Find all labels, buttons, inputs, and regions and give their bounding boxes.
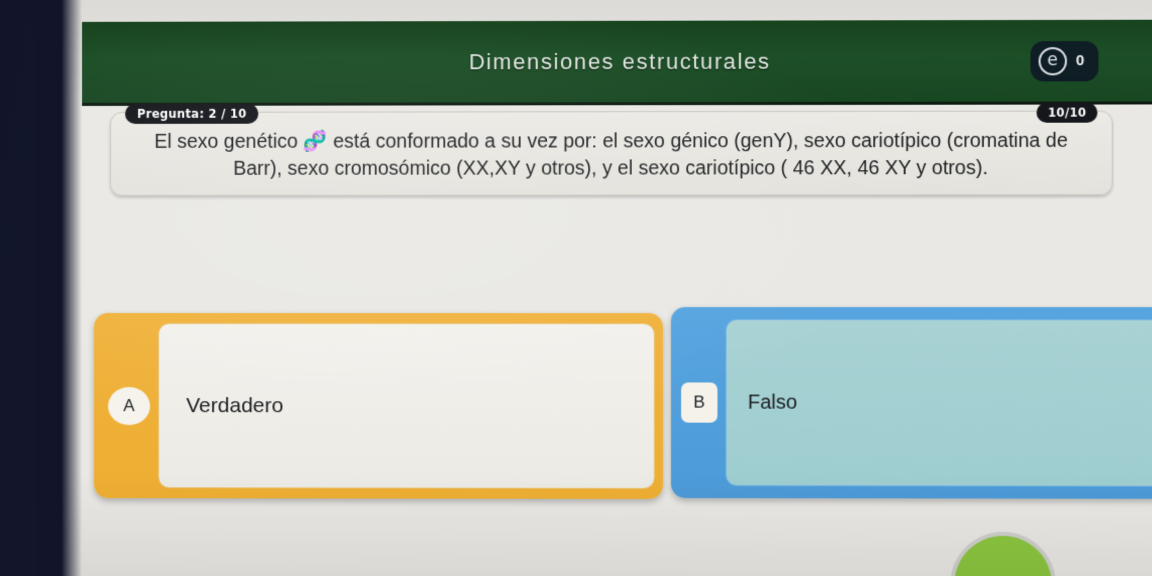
- answer-options: A Verdadero B Falso: [82, 305, 1152, 507]
- screen-edge-shadow: [36, 0, 82, 576]
- question-text-part-2: está conformado a su vez por: el sexo gé…: [233, 130, 1068, 180]
- score-badge: 10/10: [1037, 103, 1098, 123]
- page-title: Dimensiones estructurales: [469, 48, 771, 75]
- coin-e-icon: e: [1038, 47, 1066, 75]
- answer-key-badge-a: A: [108, 387, 150, 425]
- question-progress-badge: Pregunta: 2 / 10: [125, 104, 259, 124]
- question-text-part-1: El sexo genético: [154, 131, 297, 153]
- question-card: Pregunta: 2 / 10 10/10 El sexo genético …: [110, 111, 1113, 196]
- answer-key-badge-b: B: [681, 382, 717, 422]
- coin-counter[interactable]: e 0: [1030, 41, 1098, 81]
- answer-option-b[interactable]: B Falso: [671, 307, 1152, 499]
- answer-option-b-label: Falso: [748, 391, 797, 414]
- answer-option-a[interactable]: A Verdadero: [94, 313, 663, 499]
- device-bezel: Dimensiones estructurales e 0 Pregunta: …: [0, 0, 1152, 576]
- answer-option-a-label: Verdadero: [186, 394, 283, 418]
- coin-count-value: 0: [1076, 52, 1084, 69]
- screen-surface: Dimensiones estructurales e 0 Pregunta: …: [36, 0, 1152, 576]
- question-text: El sexo genético 🧬 está conformado a su …: [133, 126, 1089, 183]
- next-action-button[interactable]: [954, 536, 1051, 576]
- answer-option-a-badge-wrap: A: [108, 387, 150, 425]
- dna-icon: 🧬: [303, 130, 327, 153]
- answer-option-b-badge-wrap: B: [681, 382, 717, 422]
- app-header: Dimensiones estructurales e 0: [82, 20, 1152, 106]
